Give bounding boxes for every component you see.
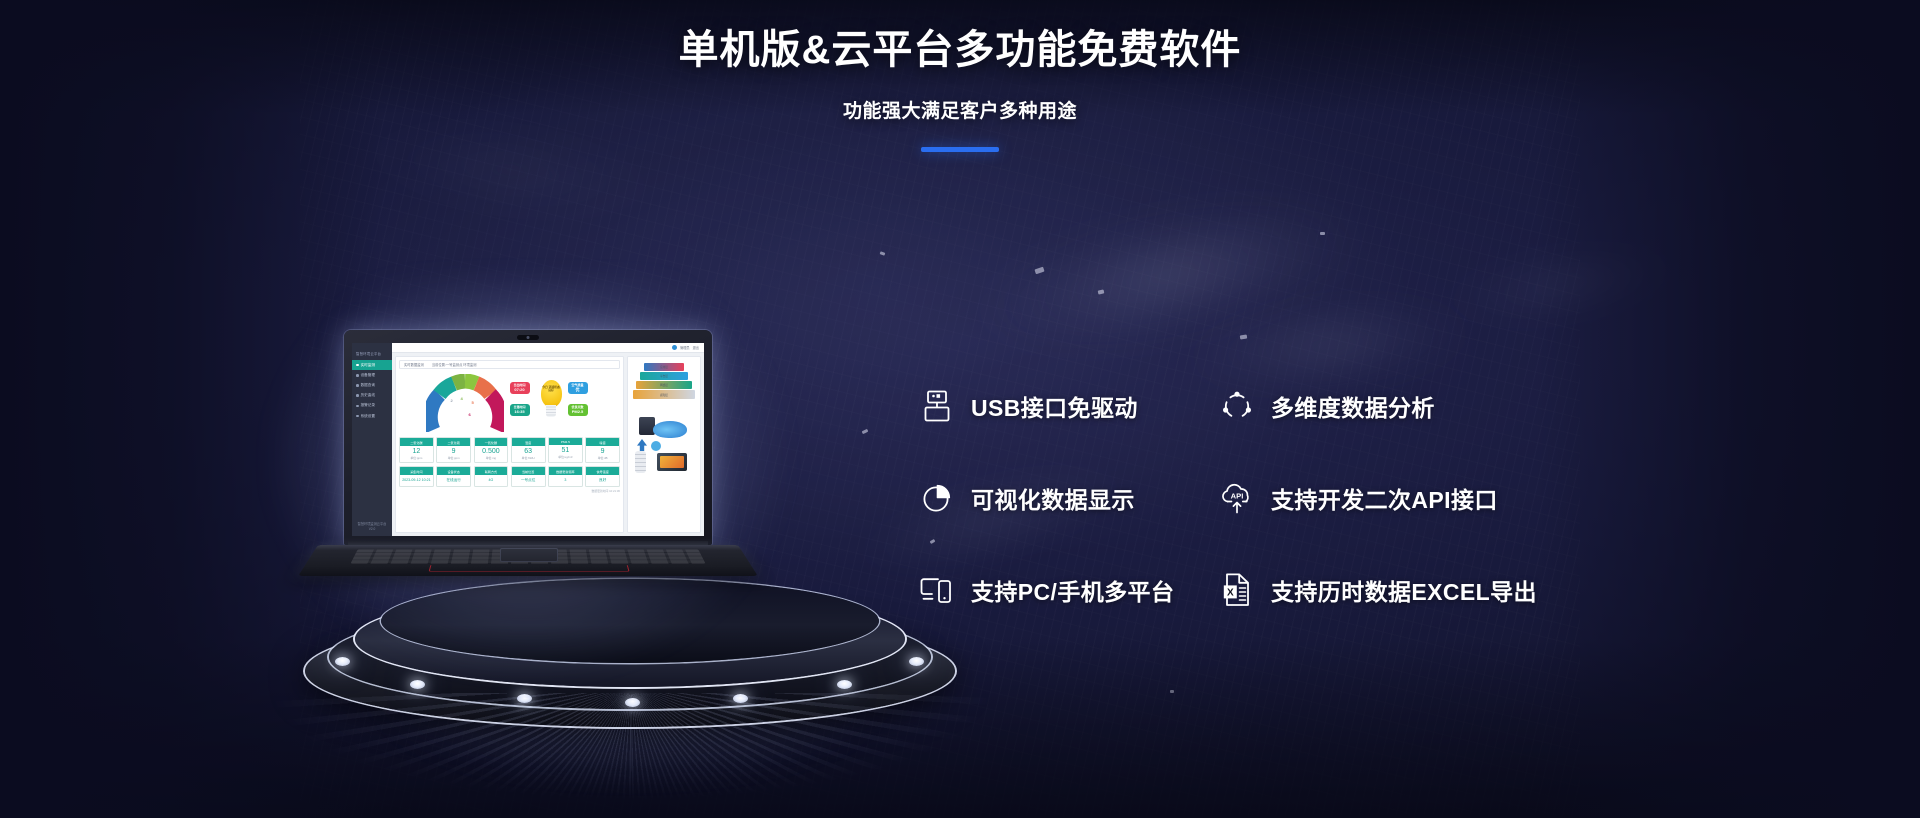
- feature-label: 支持历时数据EXCEL导出: [1271, 573, 1537, 607]
- laptop-screen-bezel: 智慧环境云平台 实时监测 设备管理 数据查询: [344, 330, 712, 545]
- kpi-tile: PM2.5 51 单位:ug/m3: [548, 437, 583, 463]
- kpi-unit: 单位:mg: [475, 455, 508, 462]
- visualization-row: 2 4 5 6 今日 环境状态良好: [399, 372, 620, 434]
- keyboard-accent-line: [429, 565, 630, 571]
- kpi-grid-bottom: 采集时间 2023-09-12 10:21 设备状态 在线运行 联网方式 4G: [399, 466, 620, 487]
- bulb-base: [546, 405, 556, 417]
- kpi-tile: 联网方式 4G: [474, 466, 509, 487]
- feature-label: 支持PC/手机多平台: [971, 573, 1174, 607]
- environment-gauge: 2 4 5 6: [426, 374, 504, 432]
- kpi-title: 采集时间: [400, 467, 433, 475]
- bulb-tag-value: 07:20: [512, 387, 528, 392]
- kpi-unit: 单位:ppm: [400, 455, 433, 462]
- wifi-icon: [651, 441, 661, 451]
- cloud-api-icon: API: [1220, 479, 1254, 517]
- pedestal-light-rays: [275, 693, 987, 818]
- kpi-value: 在线运行: [437, 475, 470, 486]
- kpi-tile: 噪音 9 单位:dB: [585, 437, 620, 463]
- pedestal-led: [410, 680, 425, 689]
- pyramid-row: 感知层: [633, 390, 695, 399]
- kpi-title: PM2.5: [549, 438, 582, 445]
- feature-item-usb[interactable]: USB接口免驱动: [920, 387, 1220, 425]
- bulb-tag-name: 空气质量: [571, 383, 583, 387]
- bullet-icon: [356, 405, 359, 408]
- bulb-tag-0: 日出时间 07:20: [510, 382, 530, 394]
- sidebar-item-label: 数据查询: [361, 383, 375, 388]
- bulb-tag-name: 日落时间: [513, 405, 525, 409]
- app-topbar: 管理员 退出: [392, 343, 704, 353]
- bullet-icon: [356, 394, 359, 397]
- kpi-value: 9: [437, 446, 470, 455]
- bulb-center-label: 今日 环境状态良好: [542, 386, 561, 393]
- side-graphics-panel: 应用层 平台层 网络层 感知层: [627, 356, 701, 533]
- sidebar-item-4[interactable]: 报警记录: [352, 401, 392, 411]
- feature-label: 可视化数据显示: [971, 481, 1135, 515]
- kpi-value: 51: [549, 445, 582, 454]
- kpi-title: 二氧化硫: [437, 438, 470, 446]
- pedestal-led: [837, 680, 852, 689]
- sidebar-item-2[interactable]: 数据查询: [352, 380, 392, 390]
- bulb-tag-3: 优良天数 PM2.5: [568, 404, 588, 416]
- pyramid-row: 网络层: [636, 381, 692, 389]
- bullet-icon: [356, 415, 359, 418]
- network-nodes-icon: [1220, 387, 1254, 425]
- breadcrumb-item-1: 当前位置:一号监测点 环境监测: [432, 362, 477, 367]
- sidebar-item-5[interactable]: 系统设置: [352, 411, 392, 421]
- kpi-title: 信号强度: [586, 467, 619, 475]
- bulb-tag-1: 空气质量 优: [568, 382, 588, 394]
- sidebar-footer: 智慧环境监测云平台 V2.0: [352, 518, 392, 536]
- gauge-dial-number: 5: [472, 400, 474, 405]
- kpi-unit: 单位:ug/m3: [549, 454, 582, 461]
- page-title: 单机版&云平台多功能免费软件: [0, 26, 1920, 74]
- feature-label: USB接口免驱动: [971, 389, 1138, 423]
- kpi-value: 4G: [475, 475, 508, 485]
- kpi-value: 0.500: [475, 446, 508, 455]
- kpi-tile: 设备状态 在线运行: [436, 466, 471, 487]
- kpi-tile: 当前位置 一号点位: [511, 466, 546, 487]
- kpi-title: 噪音: [586, 438, 619, 446]
- feature-label: 支持开发二次API接口: [1271, 481, 1498, 515]
- bulb-tag-name: 优良天数: [571, 405, 583, 409]
- bulb-tag-value: 16:35: [512, 409, 528, 414]
- cloud-icon: [653, 421, 687, 438]
- kpi-tile: 一氧化碳 0.500 单位:mg: [474, 437, 509, 463]
- title-divider: [921, 147, 999, 152]
- feature-item-excel[interactable]: X 支持历时数据EXCEL导出: [1220, 571, 1620, 609]
- dashboard-footer-note: 数据更新时间 10:21:36: [399, 489, 620, 493]
- gauge-dial-number: 2: [451, 398, 453, 403]
- laptop-screen: 智慧环境云平台 实时监测 设备管理 数据查询: [352, 343, 704, 536]
- banner-header: 单机版&云平台多功能免费软件 功能强大满足客户多种用途: [0, 0, 1920, 152]
- sensor-icon: [635, 451, 646, 473]
- page-subtitle: 功能强大满足客户多种用途: [0, 96, 1920, 123]
- topbar-menu[interactable]: 退出: [693, 345, 699, 350]
- bullet-icon: [356, 374, 359, 377]
- feature-item-visualization[interactable]: 可视化数据显示: [920, 479, 1220, 517]
- tablet-screen: [660, 456, 684, 468]
- bullet-icon: [356, 384, 359, 387]
- bullet-icon: [356, 364, 359, 367]
- kpi-value: 2023-09-12 10:21: [400, 475, 433, 485]
- feature-label: 多维度数据分析: [1271, 389, 1435, 423]
- gauge-dial-number: 6: [469, 412, 471, 417]
- kpi-grid-top: 二氧化碳 12 单位:ppm 二氧化硫 9 单位:ppm: [399, 437, 620, 463]
- kpi-value: 良好: [586, 475, 619, 486]
- pyramid-row: 平台层: [640, 372, 688, 380]
- touchpad: [500, 548, 558, 562]
- kpi-title: 数据更新频率: [549, 467, 582, 475]
- kpi-tile: 二氧化硫 9 单位:ppm: [436, 437, 471, 463]
- banner-stage: 单机版&云平台多功能免费软件 功能强大满足客户多种用途 智慧环境云平台 实时监测…: [0, 0, 1920, 818]
- feature-item-multiplatform[interactable]: 支持PC/手机多平台: [920, 571, 1220, 609]
- kpi-title: 湿度: [512, 438, 545, 446]
- svg-text:X: X: [1227, 588, 1234, 599]
- upload-arrow-icon: [637, 439, 647, 451]
- kpi-value: 12: [400, 446, 433, 455]
- kpi-tile: 二氧化碳 12 单位:ppm: [399, 437, 434, 463]
- avatar[interactable]: [672, 345, 677, 350]
- kpi-value: 9: [586, 446, 619, 455]
- kpi-title: 当前位置: [512, 467, 545, 475]
- kpi-value: 一号点位: [512, 475, 545, 486]
- kpi-tile: 采集时间 2023-09-12 10:21: [399, 466, 434, 487]
- devices-icon: [920, 571, 954, 609]
- sidebar-item-3[interactable]: 历史曲线: [352, 391, 392, 401]
- laptop-mockup: 智慧环境云平台 实时监测 设备管理 数据查询: [318, 330, 738, 630]
- kpi-title: 设备状态: [437, 467, 470, 475]
- kpi-unit: 单位:%RH: [512, 455, 545, 462]
- bulb-tag-2: 日落时间 16:35: [510, 404, 530, 416]
- usb-icon: [920, 387, 954, 425]
- app-main: 管理员 退出 实时数据监测 当前位置:一号监测点 环境监测: [392, 343, 704, 536]
- kpi-title: 一氧化碳: [475, 438, 508, 446]
- app-brand: 智慧环境云平台: [352, 348, 392, 360]
- breadcrumb-item-0[interactable]: 实时数据监测: [404, 362, 424, 367]
- dashboard-panel: 实时数据监测 当前位置:一号监测点 环境监测: [395, 356, 624, 533]
- sidebar-item-label: 系统设置: [361, 414, 375, 419]
- kpi-tile: 湿度 63 单位:%RH: [511, 437, 546, 463]
- kpi-unit: 单位:dB: [586, 455, 619, 462]
- kpi-title: 联网方式: [475, 467, 508, 475]
- bulb-tag-name: 日出时间: [513, 383, 525, 387]
- bulb-tag-value: 优: [570, 387, 586, 392]
- pie-chart-icon: [920, 479, 954, 517]
- cloud-device-diagram: [631, 413, 697, 473]
- breadcrumb: 实时数据监测 当前位置:一号监测点 环境监测: [399, 360, 620, 369]
- sidebar-item-label: 报警记录: [361, 403, 375, 408]
- sidebar-item-label: 历史曲线: [361, 393, 375, 398]
- feature-item-api[interactable]: API 支持开发二次API接口: [1220, 479, 1620, 517]
- status-bulb: 今日 环境状态良好 日出时间 07:20 空气质量 优: [508, 374, 594, 432]
- sidebar-item-0[interactable]: 实时监测: [352, 360, 392, 370]
- feature-list: USB接口免驱动 多维度数据分析: [920, 360, 1620, 636]
- kpi-tile: 信号强度 良好: [585, 466, 620, 487]
- app-sidebar: 智慧环境云平台 实时监测 设备管理 数据查询: [352, 343, 392, 536]
- architecture-pyramid: 应用层 平台层 网络层 感知层: [633, 363, 695, 403]
- webcam-icon: [517, 335, 539, 340]
- kpi-title: 二氧化碳: [400, 438, 433, 446]
- app-body: 实时数据监测 当前位置:一号监测点 环境监测: [392, 353, 704, 536]
- kpi-value: 63: [512, 446, 545, 455]
- bulb-tag-value: PM2.5: [570, 409, 586, 414]
- sidebar-item-1[interactable]: 设备管理: [352, 370, 392, 380]
- kpi-value: 3: [549, 475, 582, 485]
- kpi-tile: 数据更新频率 3: [548, 466, 583, 487]
- pyramid-row: 应用层: [644, 363, 684, 371]
- kpi-unit: 单位:ppm: [437, 455, 470, 462]
- svg-text:API: API: [1231, 492, 1244, 501]
- feature-item-analysis[interactable]: 多维度数据分析: [1220, 387, 1620, 425]
- gauge-dial-number: 4: [461, 396, 463, 401]
- sidebar-item-label: 实时监测: [361, 363, 375, 368]
- excel-file-icon: X: [1220, 571, 1254, 609]
- pedestal-led: [909, 657, 924, 666]
- sidebar-item-label: 设备管理: [361, 373, 375, 378]
- topbar-user[interactable]: 管理员: [680, 345, 690, 350]
